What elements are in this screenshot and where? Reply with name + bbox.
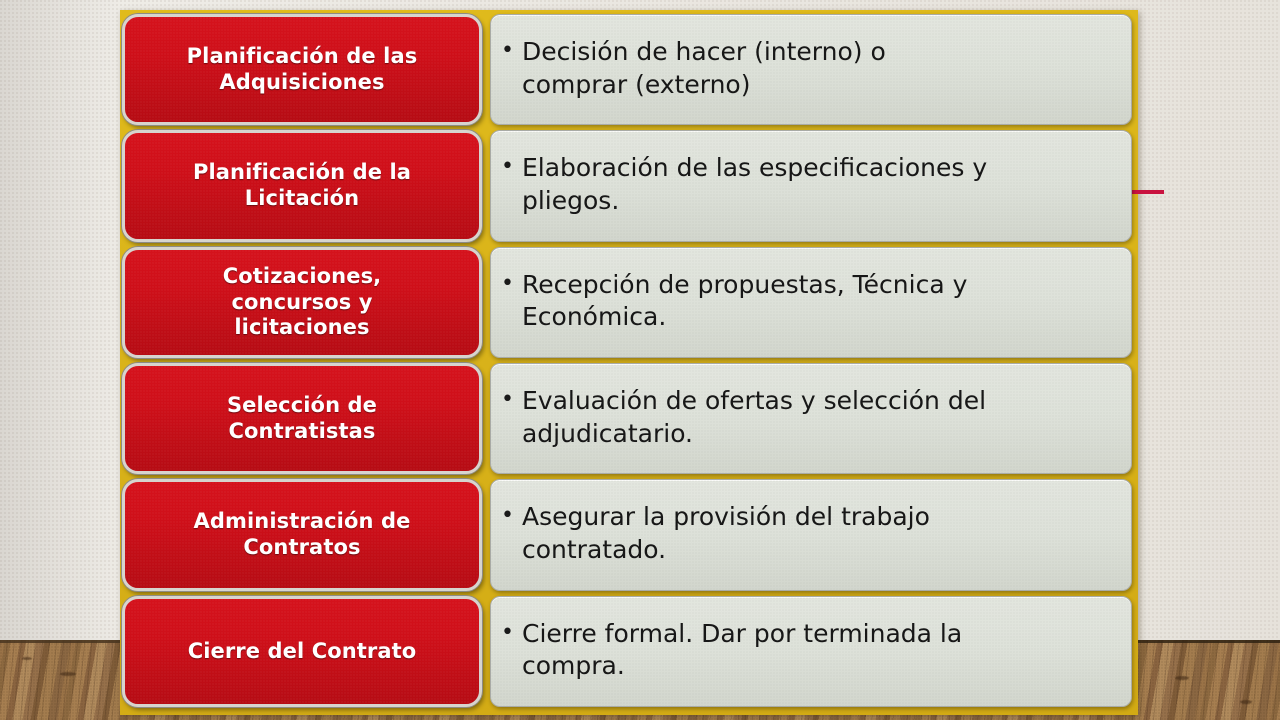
stage-chip-label: Planificación de la Licitación: [179, 156, 425, 215]
bullet-icon: •: [501, 501, 514, 530]
bullet-row: • Cierre formal. Dar por terminada la co…: [491, 612, 974, 691]
stage-description-text: Recepción de propuestas, Técnica y Econó…: [522, 269, 967, 334]
stage-description-text: Evaluación de ofertas y selección del ad…: [522, 385, 986, 450]
stage-description-panel-4[interactable]: • Evaluación de ofertas y selección del …: [490, 363, 1132, 474]
bullet-row: • Evaluación de ofertas y selección del …: [491, 379, 998, 458]
stage-description-text: Decisión de hacer (interno) o comprar (e…: [522, 36, 886, 101]
bullet-row: • Recepción de propuestas, Técnica y Eco…: [491, 263, 979, 342]
floor-knot-4: [1175, 676, 1189, 680]
process-rows-container: Planificación de las Adquisiciones • Dec…: [120, 12, 1138, 710]
process-row-6: Cierre del Contrato • Cierre formal. Dar…: [120, 594, 1138, 710]
bullet-icon: •: [501, 618, 514, 647]
bullet-icon: •: [501, 152, 514, 181]
stage-chip-planificacion-adquisiciones[interactable]: Planificación de las Adquisiciones: [122, 14, 482, 125]
floor-knot-1: [60, 672, 76, 676]
stage-description-text: Elaboración de las especificaciones y pl…: [522, 152, 987, 217]
floor-knot-5: [1240, 700, 1252, 704]
stage-chip-cotizaciones-concursos-licitaciones[interactable]: Cotizaciones, concursos y licitaciones: [122, 247, 482, 358]
bullet-row: • Decisión de hacer (interno) o comprar …: [491, 30, 898, 109]
stage-description-panel-1[interactable]: • Decisión de hacer (interno) o comprar …: [490, 14, 1132, 125]
stage-chip-label: Selección de Contratistas: [213, 389, 391, 448]
process-row-5: Administración de Contratos • Asegurar l…: [120, 477, 1138, 593]
stage-chip-label: Cierre del Contrato: [174, 635, 431, 669]
slide-canvas: Planificación de las Adquisiciones • Dec…: [0, 0, 1280, 720]
wall-shadow: [0, 0, 120, 648]
bullet-icon: •: [501, 36, 514, 65]
bullet-row: • Elaboración de las especificaciones y …: [491, 146, 999, 225]
stage-description-text: Asegurar la provisión del trabajo contra…: [522, 501, 930, 566]
stage-description-panel-5[interactable]: • Asegurar la provisión del trabajo cont…: [490, 479, 1132, 590]
stage-chip-planificacion-licitacion[interactable]: Planificación de la Licitación: [122, 130, 482, 241]
stage-chip-seleccion-contratistas[interactable]: Selección de Contratistas: [122, 363, 482, 474]
bullet-icon: •: [501, 385, 514, 414]
process-row-4: Selección de Contratistas • Evaluación d…: [120, 361, 1138, 477]
process-row-1: Planificación de las Adquisiciones • Dec…: [120, 12, 1138, 128]
stage-chip-label: Cotizaciones, concursos y licitaciones: [209, 260, 396, 345]
stage-description-text: Cierre formal. Dar por terminada la comp…: [522, 618, 962, 683]
stage-description-panel-2[interactable]: • Elaboración de las especificaciones y …: [490, 130, 1132, 241]
bullet-row: • Asegurar la provisión del trabajo cont…: [491, 495, 942, 574]
process-row-2: Planificación de la Licitación • Elabora…: [120, 128, 1138, 244]
stage-description-panel-6[interactable]: • Cierre formal. Dar por terminada la co…: [490, 596, 1132, 707]
stage-chip-label: Administración de Contratos: [180, 505, 425, 564]
stage-chip-cierre-contrato[interactable]: Cierre del Contrato: [122, 596, 482, 707]
process-row-3: Cotizaciones, concursos y licitaciones •…: [120, 245, 1138, 361]
stage-chip-administracion-contratos[interactable]: Administración de Contratos: [122, 479, 482, 590]
stage-description-panel-3[interactable]: • Recepción de propuestas, Técnica y Eco…: [490, 247, 1132, 358]
stage-chip-label: Planificación de las Adquisiciones: [173, 40, 432, 99]
bullet-icon: •: [501, 269, 514, 298]
floor-knot-3: [22, 657, 32, 660]
